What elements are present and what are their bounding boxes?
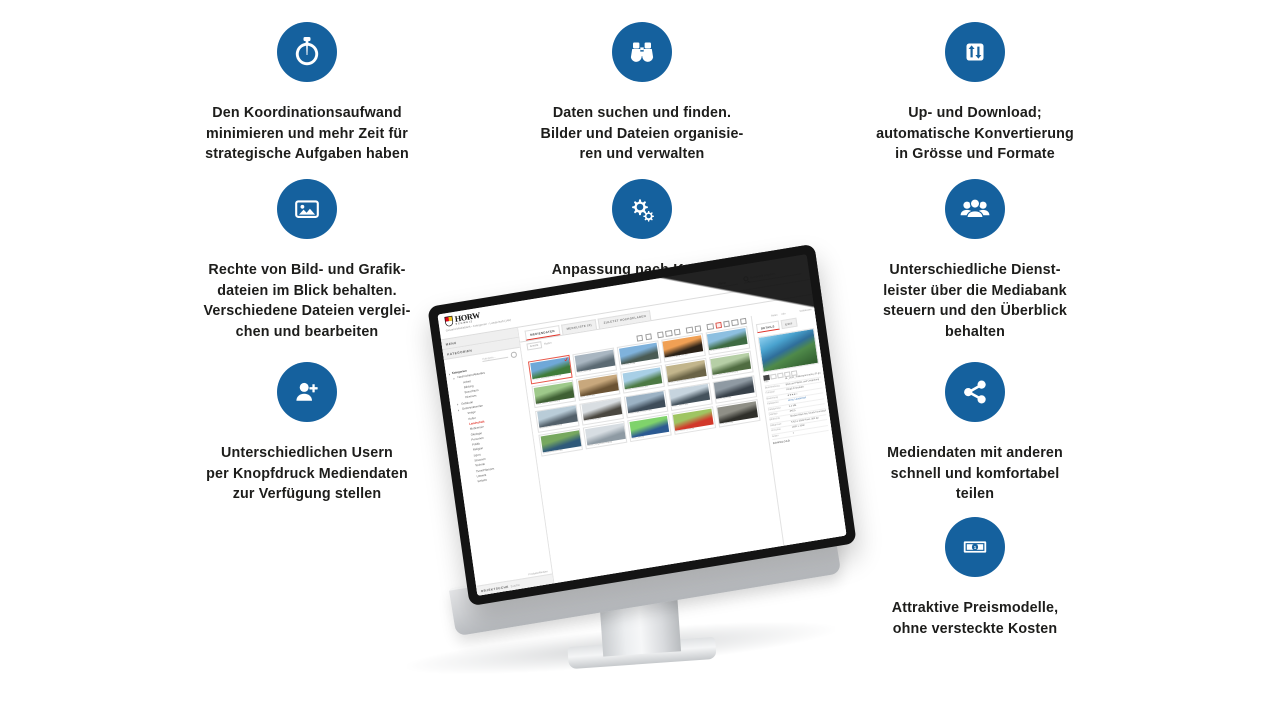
feature-search: Daten suchen und finden. Bilder und Date… (517, 22, 767, 165)
feature-caption: Den Koordinationsaufwand minimieren und … (182, 103, 432, 165)
edit-icon[interactable] (645, 334, 652, 341)
feature-user-access: Unterschiedlichen Usern per Knopfdruck M… (182, 362, 432, 505)
users-group-icon (945, 179, 1005, 239)
duplicate-icon[interactable] (707, 323, 714, 330)
media-thumbnail[interactable]: Seeufer_Morgenstimmung.jpg (583, 421, 628, 450)
toolbar-separator (703, 326, 706, 330)
upload-download-icon (945, 22, 1005, 82)
download-icon[interactable] (665, 330, 672, 337)
banknote-icon: 1 (945, 517, 1005, 577)
copy-icon[interactable] (732, 319, 739, 326)
feature-caption: Unterschiedlichen Usern per Knopfdruck M… (182, 443, 432, 505)
grid-wrap: HL_2021_Pilatuspanorama_01.jpgPilatus_Gi… (522, 316, 784, 583)
binoculars-icon (612, 22, 672, 82)
gears-icon (612, 179, 672, 239)
info-icon[interactable] (637, 335, 644, 342)
chevron-right-icon[interactable] (458, 404, 459, 406)
chevron-right-icon[interactable] (449, 373, 450, 375)
media-thumbnail[interactable]: Wald_Detail.jpg (716, 399, 761, 428)
detail-preview-image[interactable] (758, 328, 819, 373)
content-area: MEDIENDATENMERKLISTE (0)ZULETZT HOCHGELA… (518, 280, 846, 583)
category-tree-label: Verkehr (477, 478, 487, 484)
checkmark-icon[interactable] (564, 357, 569, 362)
view-label[interactable]: Ansicht (526, 341, 541, 350)
feature-rights: Rechte von Bild- und Grafik- dateien im … (182, 179, 432, 342)
feature-caption: Attraktive Preismodelle, ohne versteckte… (850, 598, 1100, 639)
feature-providers: Unterschiedliche Dienst- leister über di… (850, 179, 1100, 342)
feature-caption: Daten suchen und finden. Bilder und Date… (517, 103, 767, 165)
share-icon (945, 362, 1005, 422)
feature-updownload: Up- und Download; automatische Konvertie… (850, 22, 1100, 165)
delete-icon[interactable] (715, 322, 722, 329)
shield-icon (444, 315, 454, 327)
media-thumbnail[interactable]: Wiese_See.jpg (627, 414, 672, 443)
detail-metadata: TitelHL_2021_Pilatuspanorama_01.jpgBesch… (764, 372, 829, 440)
feature-sharing: Mediendaten mit anderen schnell und komf… (850, 362, 1100, 505)
detail-tab-1[interactable]: EXIF (780, 317, 797, 329)
media-thumbnail[interactable]: Luftaufnahme_Horw.jpg (538, 428, 583, 457)
monitor-screen: HORW SCHWEIZ Gesamt-Mediabank › Kategori… (437, 254, 846, 596)
star-icon[interactable] (686, 327, 693, 334)
sidebar-footer-title: OBJEKTSUCHE (481, 584, 509, 593)
feature-caption: Rechte von Bild- und Grafik- dateien im … (182, 260, 432, 342)
feature-pricing: 1 Attraktive Preismodelle, ohne versteck… (850, 517, 1100, 639)
media-thumbnail[interactable]: Mohnblumen_Feld.jpg (671, 407, 716, 436)
monitor-bezel: HORW SCHWEIZ Gesamt-Mediabank › Kategori… (427, 244, 856, 606)
svg-text:1: 1 (974, 545, 977, 550)
watermark-icon[interactable] (674, 329, 681, 336)
mediabank-app: HORW SCHWEIZ Gesamt-Mediabank › Kategori… (437, 254, 846, 596)
view-value: Raster (544, 342, 552, 346)
sidebar-footer-sub: Suche (510, 582, 520, 587)
more-icon[interactable] (740, 318, 747, 325)
crop-icon[interactable] (657, 332, 664, 339)
add-user-icon (277, 362, 337, 422)
chevron-right-icon[interactable] (458, 409, 459, 411)
toolbar-separator (682, 329, 685, 333)
feature-caption: Mediendaten mit anderen schnell und komf… (850, 443, 1100, 505)
gallery-area: HL_2021_Pilatuspanorama_01.jpgPilatus_Gi… (522, 305, 847, 583)
feature-coordination: Den Koordinationsaufwand minimieren und … (182, 22, 432, 165)
feature-caption: Up- und Download; automatische Konvertie… (850, 103, 1100, 165)
reset-icon[interactable] (511, 352, 517, 358)
toolbar-separator (653, 334, 656, 338)
search-icon (743, 276, 749, 282)
chevron-right-icon[interactable] (454, 377, 455, 379)
move-icon[interactable] (723, 321, 730, 328)
object-select[interactable]: Objekt (718, 278, 739, 287)
feature-caption: Unterschiedliche Dienst- leister über di… (850, 260, 1100, 342)
metadata-value: 1 (792, 431, 794, 436)
image-icon (277, 179, 337, 239)
detail-tab-0[interactable]: DETAILS (756, 320, 780, 333)
list-icon[interactable] (694, 326, 701, 333)
stopwatch-icon (277, 22, 337, 82)
monitor-mockup: HORW SCHWEIZ Gesamt-Mediabank › Kategori… (418, 262, 868, 682)
